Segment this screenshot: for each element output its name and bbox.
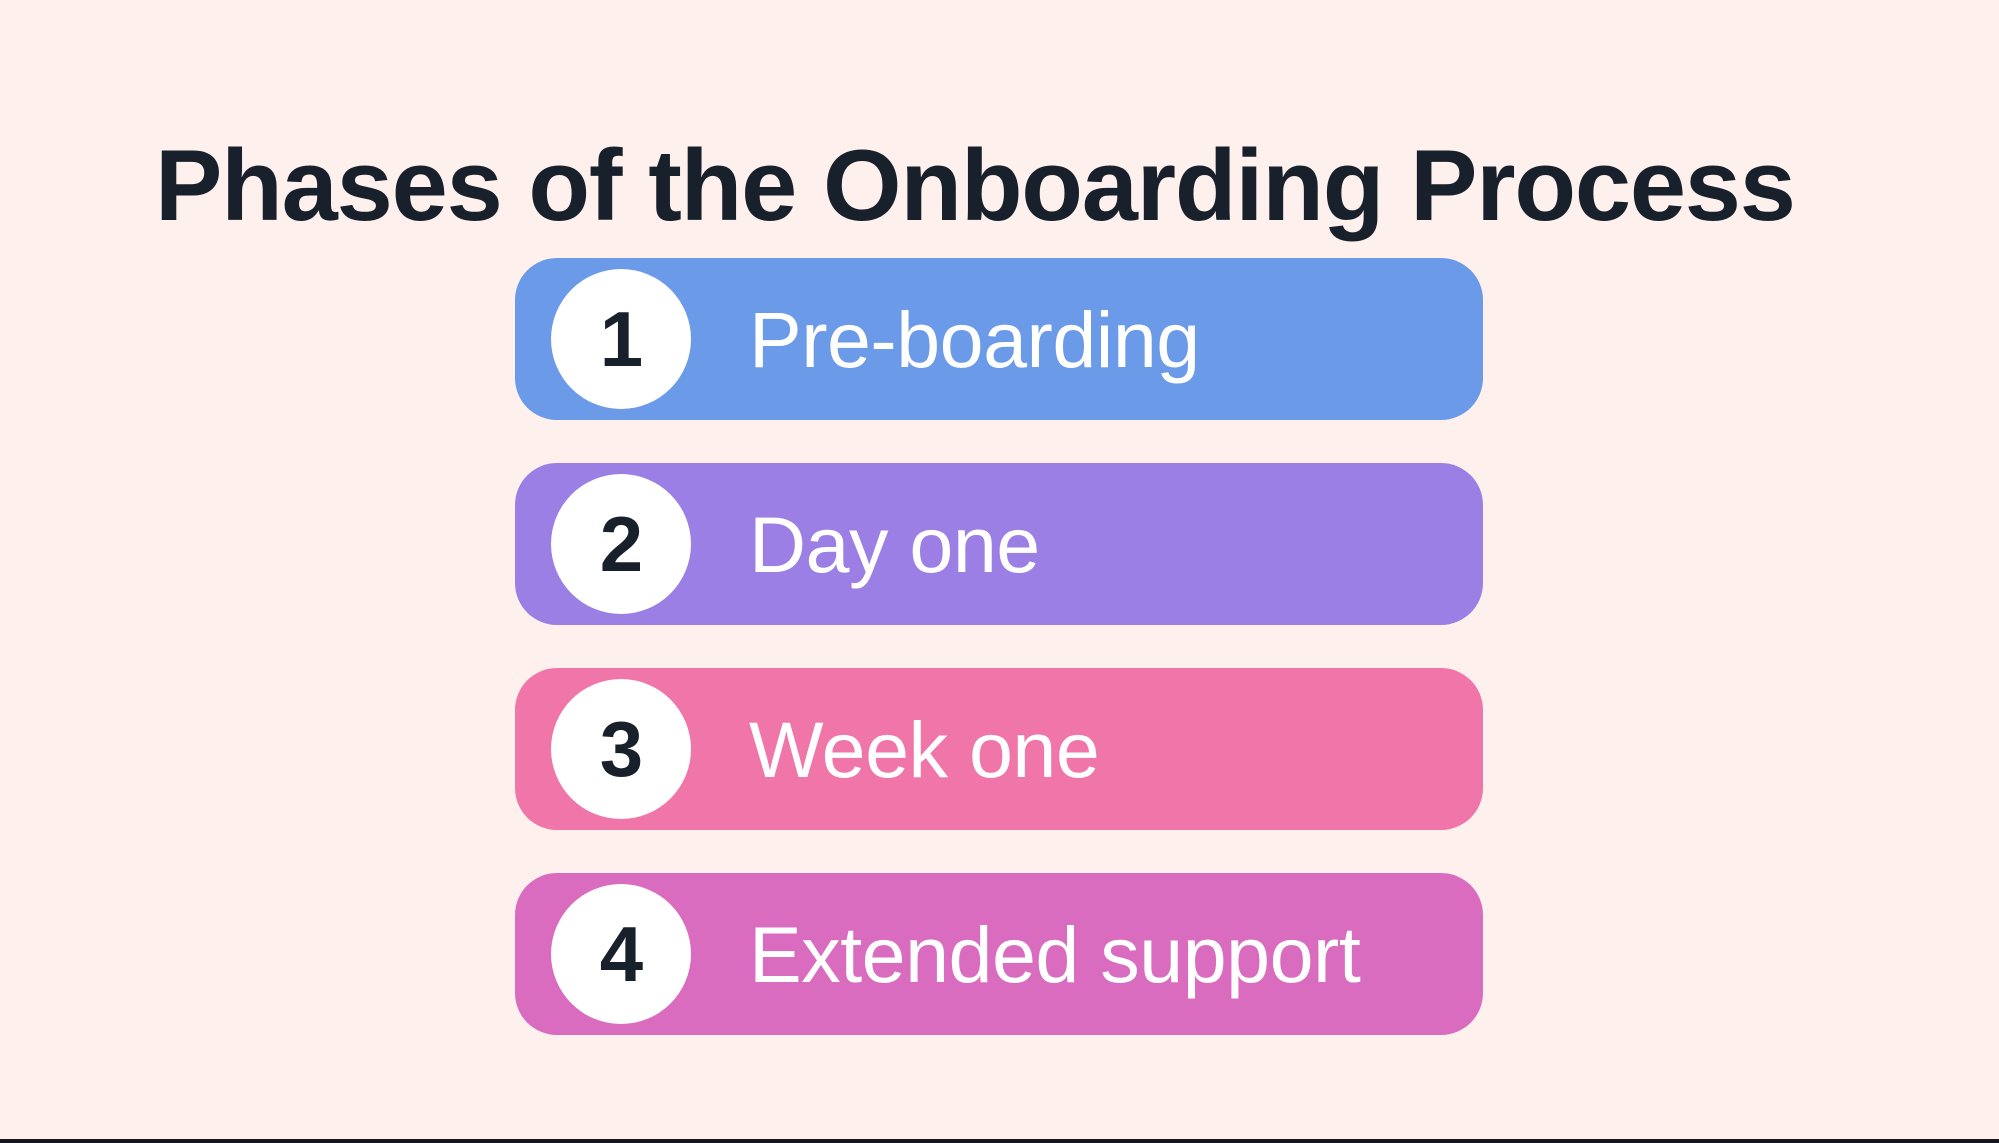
list-item[interactable]: 4 Extended support [515, 873, 1483, 1035]
step-number-badge: 4 [551, 884, 691, 1024]
step-number-badge: 1 [551, 269, 691, 409]
step-title-label: Week one [749, 710, 1099, 789]
step-number-label: 1 [600, 300, 642, 378]
list-item[interactable]: 3 Week one [515, 668, 1483, 830]
step-number-badge: 3 [551, 679, 691, 819]
step-title-label: Extended support [749, 915, 1360, 994]
step-number-label: 4 [600, 915, 642, 993]
steps-list: 1 Pre-boarding 2 Day one 3 Week one 4 Ex… [515, 258, 1483, 1035]
slide-canvas: Phases of the Onboarding Process 1 Pre-b… [0, 0, 1999, 1143]
step-title-label: Day one [749, 505, 1040, 584]
list-item[interactable]: 1 Pre-boarding [515, 258, 1483, 420]
page-title: Phases of the Onboarding Process [155, 130, 1795, 243]
bottom-divider [0, 1139, 1999, 1143]
step-number-label: 2 [600, 505, 642, 583]
step-title-label: Pre-boarding [749, 300, 1200, 379]
step-number-badge: 2 [551, 474, 691, 614]
step-number-label: 3 [600, 710, 642, 788]
list-item[interactable]: 2 Day one [515, 463, 1483, 625]
